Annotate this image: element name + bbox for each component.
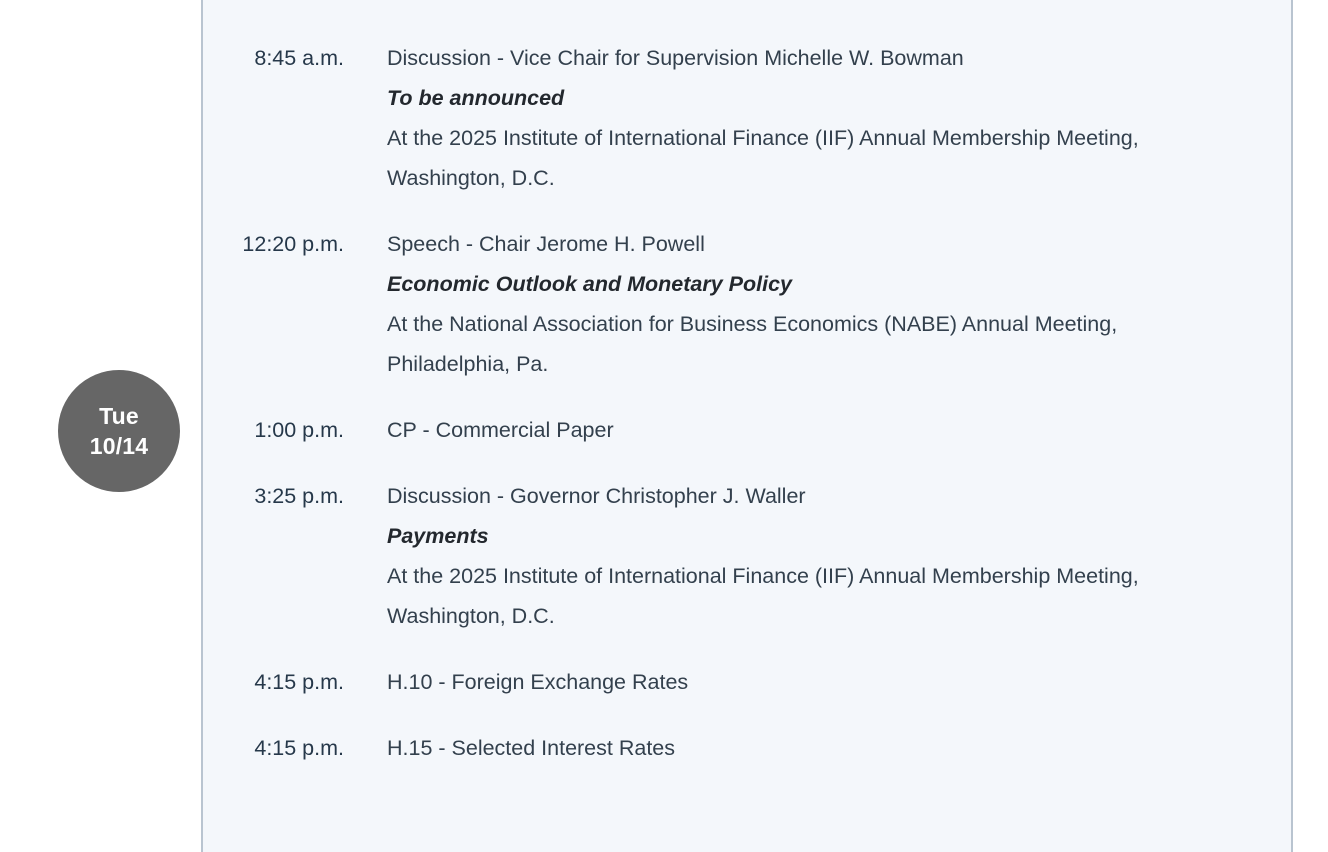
event-title: Payments — [387, 516, 1201, 556]
date-gutter: Tue 10/14 — [0, 0, 201, 852]
event-body: CP - Commercial Paper — [387, 410, 1291, 450]
event-row[interactable]: 4:15 p.m.H.10 - Foreign Exchange Rates — [203, 662, 1291, 702]
event-headline[interactable]: Discussion - Governor Christopher J. Wal… — [387, 476, 1201, 516]
event-headline[interactable]: H.10 - Foreign Exchange Rates — [387, 662, 1201, 702]
event-row[interactable]: 1:00 p.m.CP - Commercial Paper — [203, 410, 1291, 450]
event-body: Discussion - Governor Christopher J. Wal… — [387, 476, 1291, 636]
event-time: 4:15 p.m. — [203, 728, 387, 768]
event-time: 1:00 p.m. — [203, 410, 387, 450]
event-body: Speech - Chair Jerome H. PowellEconomic … — [387, 224, 1291, 384]
events-panel: 8:45 a.m.Discussion - Vice Chair for Sup… — [201, 0, 1293, 852]
event-headline[interactable]: Discussion - Vice Chair for Supervision … — [387, 38, 1201, 78]
event-row[interactable]: 8:45 a.m.Discussion - Vice Chair for Sup… — [203, 38, 1291, 198]
event-headline[interactable]: H.15 - Selected Interest Rates — [387, 728, 1201, 768]
event-location: At the 2025 Institute of International F… — [387, 556, 1147, 636]
event-location: At the National Association for Business… — [387, 304, 1147, 384]
event-body: Discussion - Vice Chair for Supervision … — [387, 38, 1291, 198]
date-badge-date: 10/14 — [90, 431, 149, 461]
event-time: 4:15 p.m. — [203, 662, 387, 702]
event-row[interactable]: 12:20 p.m.Speech - Chair Jerome H. Powel… — [203, 224, 1291, 384]
event-headline[interactable]: Speech - Chair Jerome H. Powell — [387, 224, 1201, 264]
event-time: 12:20 p.m. — [203, 224, 387, 264]
event-title: To be announced — [387, 78, 1201, 118]
event-time: 8:45 a.m. — [203, 38, 387, 78]
event-headline[interactable]: CP - Commercial Paper — [387, 410, 1201, 450]
event-body: H.15 - Selected Interest Rates — [387, 728, 1291, 768]
date-badge-weekday: Tue — [99, 401, 139, 431]
event-body: H.10 - Foreign Exchange Rates — [387, 662, 1291, 702]
date-badge: Tue 10/14 — [58, 370, 180, 492]
event-time: 3:25 p.m. — [203, 476, 387, 516]
event-title: Economic Outlook and Monetary Policy — [387, 264, 1201, 304]
calendar-day-row: Tue 10/14 8:45 a.m.Discussion - Vice Cha… — [0, 0, 1328, 852]
event-row[interactable]: 4:15 p.m.H.15 - Selected Interest Rates — [203, 728, 1291, 768]
event-location: At the 2025 Institute of International F… — [387, 118, 1147, 198]
event-row[interactable]: 3:25 p.m.Discussion - Governor Christoph… — [203, 476, 1291, 636]
